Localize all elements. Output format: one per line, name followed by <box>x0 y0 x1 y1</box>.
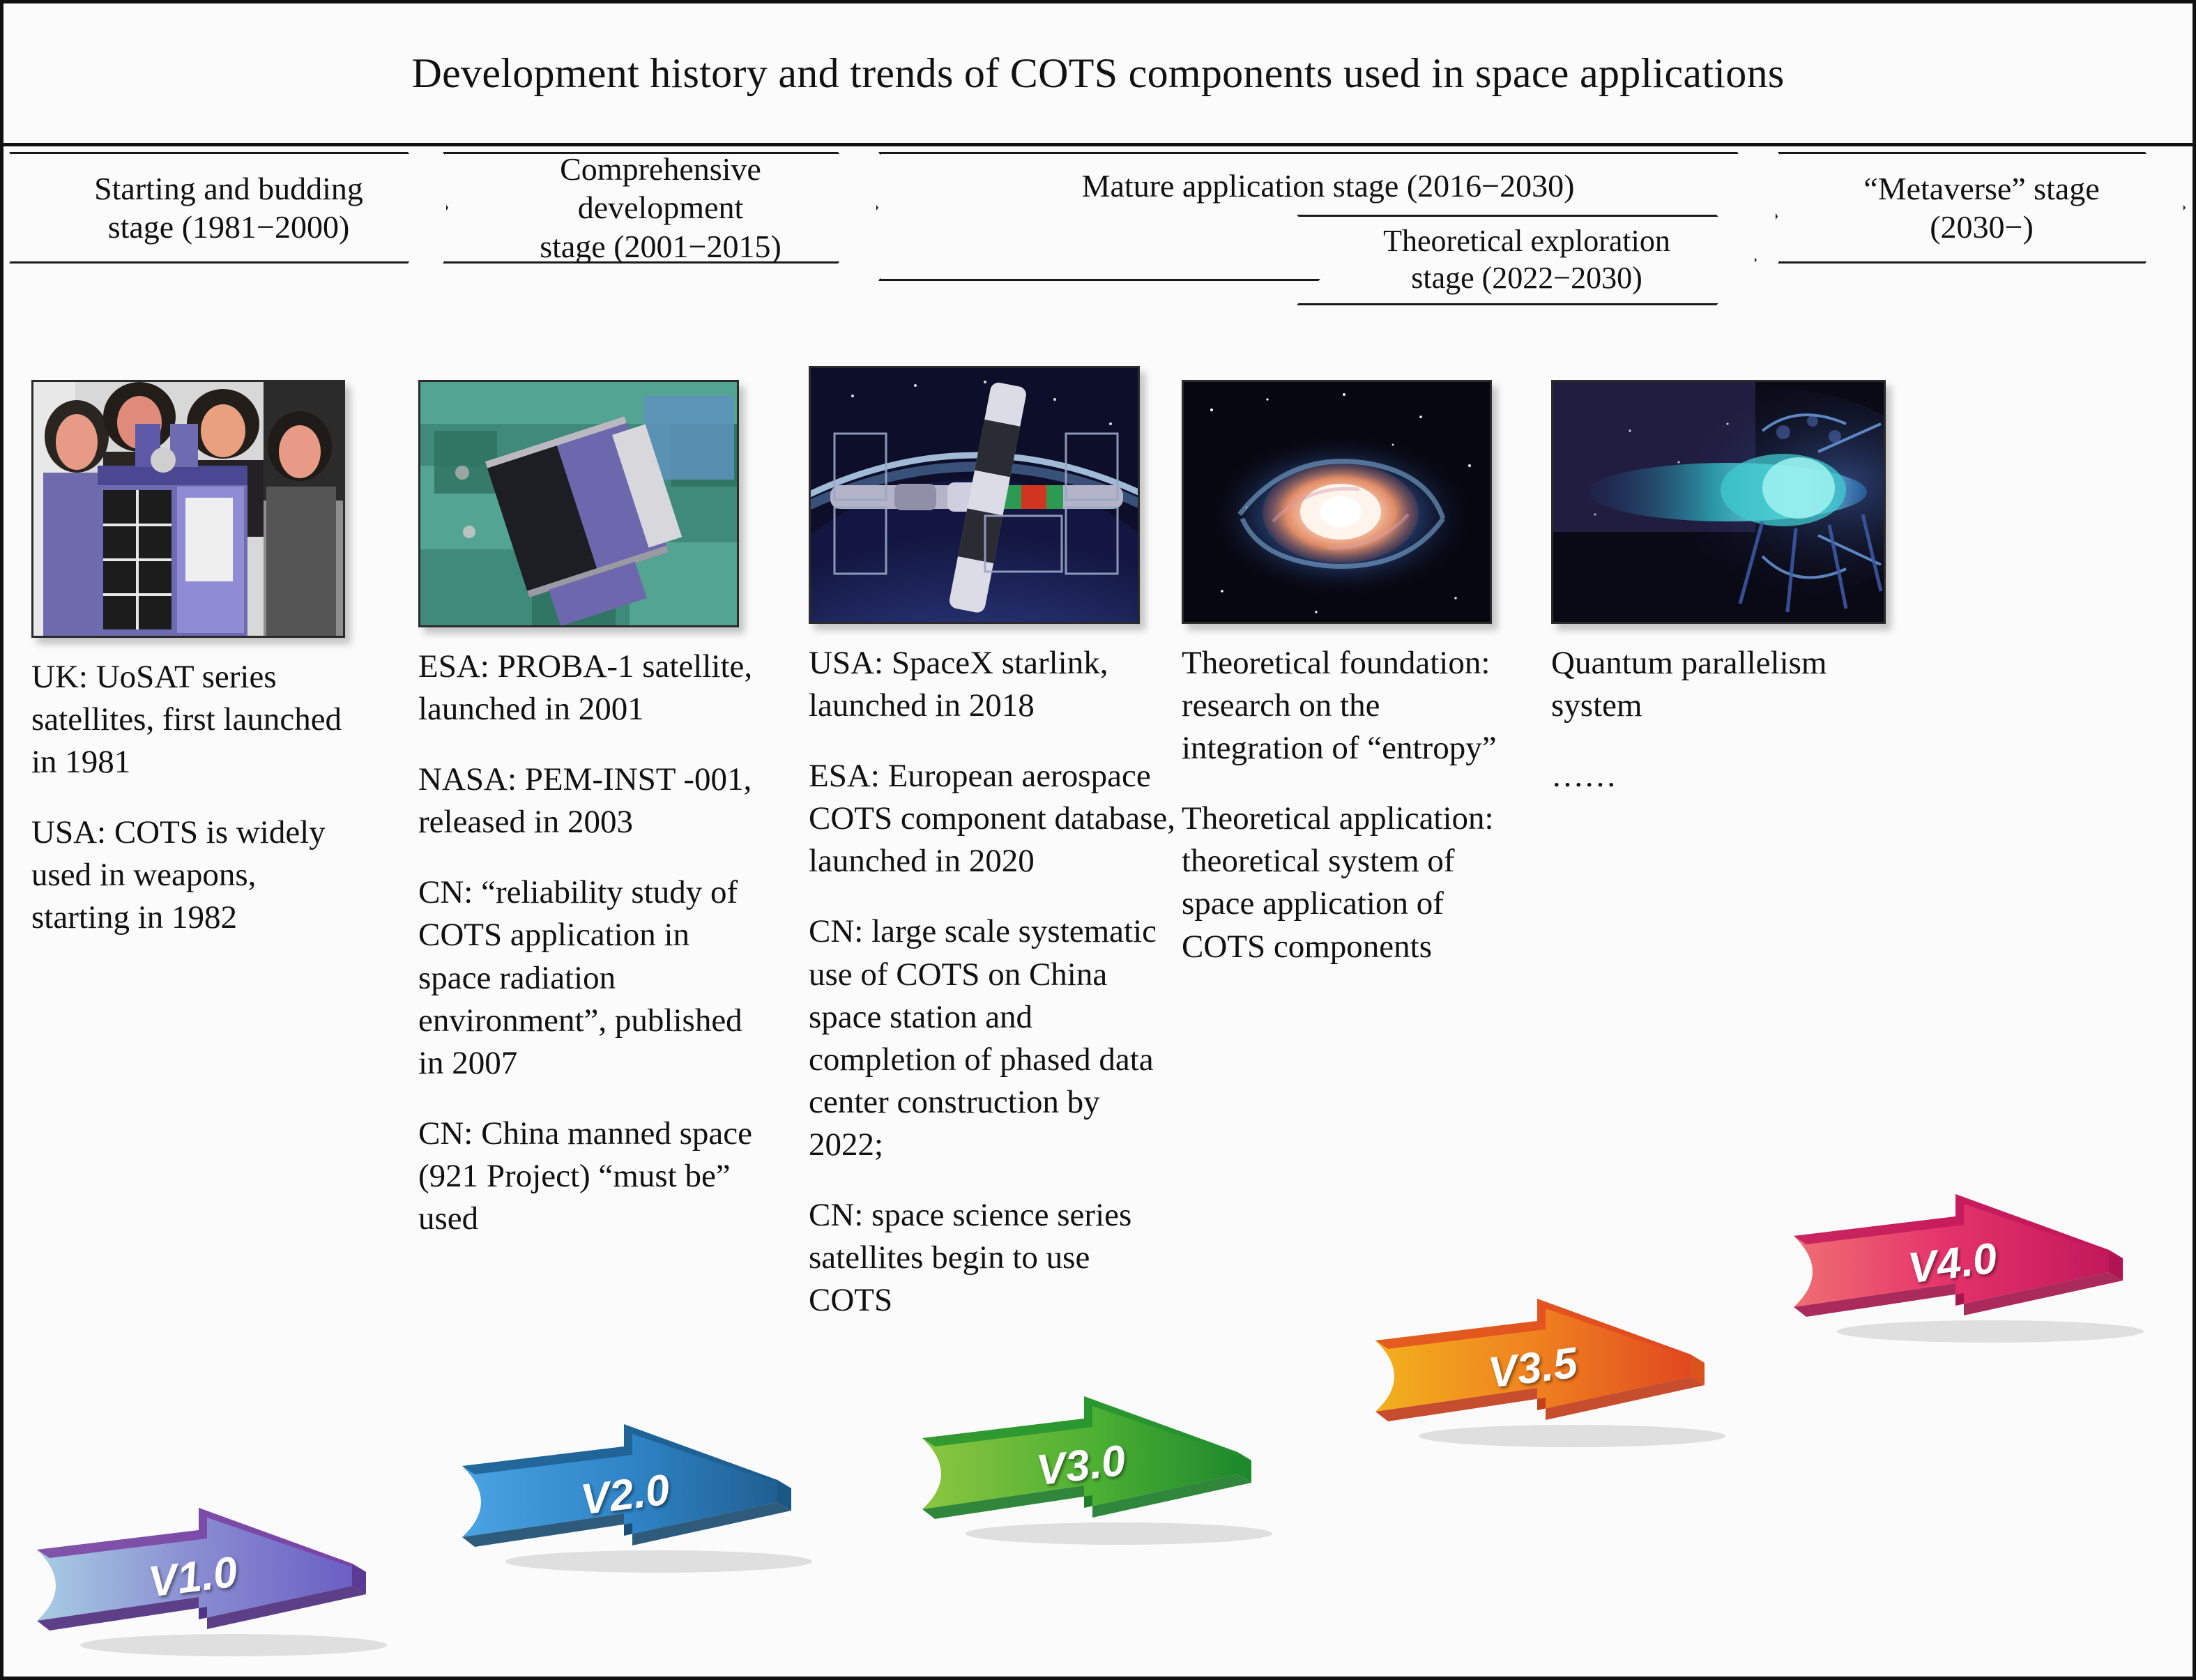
arrow-v35-graphic <box>1363 1293 1753 1453</box>
stage-chevron-starting[interactable]: Starting and budding stage (1981−2000) <box>9 152 448 264</box>
arrow-v1-graphic <box>24 1502 415 1663</box>
thumbnail-starlink-spacecraft-render <box>809 366 1140 624</box>
caption-paragraph: Theoretical foundation: research on the … <box>1182 642 1509 770</box>
column-comprehensive-stage: ESA: PROBA-1 satellite, launched in 2001… <box>418 380 753 1240</box>
page-title: Development history and trends of COTS c… <box>411 49 1784 98</box>
caption-paragraph: CN: “reliability study of COTS applicati… <box>418 871 753 1084</box>
stage-label-line2: development <box>540 188 781 227</box>
stage-chevron-comprehensive[interactable]: Comprehensive development stage (2001−20… <box>443 152 878 264</box>
column-starting-stage: UK: UoSAT series satellites, first launc… <box>31 380 359 940</box>
version-arrow-v35[interactable]: V3.5 <box>1363 1293 1753 1453</box>
column-theoretical-exploration: Theoretical foundation: research on the … <box>1182 380 1509 968</box>
stage-chevron-metaverse[interactable]: “Metaverse” stage (2030−) <box>1778 152 2186 264</box>
caption-paragraph: USA: SpaceX starlink, launched in 2018 <box>809 642 1178 727</box>
caption-paragraph: CN: China manned space (921 Project) “mu… <box>418 1113 753 1240</box>
version-arrow-v3[interactable]: V3.0 <box>910 1391 1300 1551</box>
thumbnail-quantum-system-render <box>1551 380 1886 624</box>
stage-label-line1: “Metaverse” stage <box>1863 169 2099 208</box>
version-arrow-v2[interactable]: V2.0 <box>450 1419 840 1579</box>
stage-label-line2: (2030−) <box>1863 208 2099 246</box>
caption-block-column-2: ESA: PROBA-1 satellite, launched in 2001… <box>418 646 753 1240</box>
infographic-root: Development history and trends of COTS c… <box>0 0 2196 1680</box>
title-band: Development history and trends of COTS c… <box>3 3 2193 146</box>
galaxy-graphic <box>1184 382 1492 624</box>
stage-label-line3: stage (2001−2015) <box>540 227 781 266</box>
uosat-team-photo-graphic <box>33 382 345 638</box>
starlink-spacecraft-graphic <box>811 368 1140 624</box>
stage-label-line1: Starting and budding <box>94 169 363 208</box>
caption-paragraph: Quantum parallelism system <box>1551 642 1879 727</box>
thumbnail-uosat-team-photo <box>31 380 345 638</box>
arrow-v4-graphic <box>1781 1189 2172 1349</box>
version-arrow-v4[interactable]: V4.0 <box>1781 1189 2172 1349</box>
arrow-v2-graphic <box>450 1419 840 1579</box>
proba-1-satellite-graphic <box>420 382 739 627</box>
stage-label-line2: stage (1981−2000) <box>94 208 363 246</box>
version-arrow-v1[interactable]: V1.0 <box>24 1502 415 1663</box>
caption-paragraph: USA: COTS is widely used in weapons, sta… <box>31 811 359 939</box>
stage-label-line1: Comprehensive <box>540 150 781 188</box>
caption-paragraph: ESA: PROBA-1 satellite, launched in 2001 <box>418 646 753 731</box>
thumbnail-proba-1-satellite-photo <box>418 380 739 627</box>
caption-block-column-3: USA: SpaceX starlink, launched in 2018 E… <box>809 642 1178 1322</box>
caption-paragraph: ESA: European aerospace COTS component d… <box>809 755 1178 883</box>
stage-label-line2: stage (2022−2030) <box>1383 260 1670 297</box>
arrow-v3-graphic <box>910 1391 1300 1551</box>
caption-block-column-4: Theoretical foundation: research on the … <box>1182 642 1509 968</box>
column-mature-stage: USA: SpaceX starlink, launched in 2018 E… <box>809 366 1178 1322</box>
caption-paragraph: CN: space science series satellites begi… <box>809 1194 1178 1322</box>
stage-label-line1: Theoretical exploration <box>1383 223 1670 260</box>
quantum-system-graphic <box>1553 382 1886 624</box>
caption-paragraph: NASA: PEM-INST -001, released in 2003 <box>418 758 753 843</box>
caption-paragraph: CN: large scale systematic use of COTS o… <box>809 910 1178 1166</box>
caption-block-column-5: Quantum parallelism system …… <box>1551 642 1879 797</box>
thumbnail-galaxy-photo <box>1182 380 1492 624</box>
caption-block-column-1: UK: UoSAT series satellites, first launc… <box>31 656 359 940</box>
caption-paragraph: UK: UoSAT series satellites, first launc… <box>31 656 359 784</box>
caption-paragraph: …… <box>1551 755 1879 797</box>
stage-chevron-row: Starting and budding stage (1981−2000) C… <box>3 146 2193 300</box>
caption-paragraph: Theoretical application: theoretical sys… <box>1182 797 1509 968</box>
stage-chevron-theoretical[interactable]: Theoretical exploration stage (2022−2030… <box>1297 215 1757 305</box>
stage-label-line1: Mature application stage (2016−2030) <box>1082 167 1575 205</box>
column-metaverse-stage: Quantum parallelism system …… <box>1551 380 1879 797</box>
